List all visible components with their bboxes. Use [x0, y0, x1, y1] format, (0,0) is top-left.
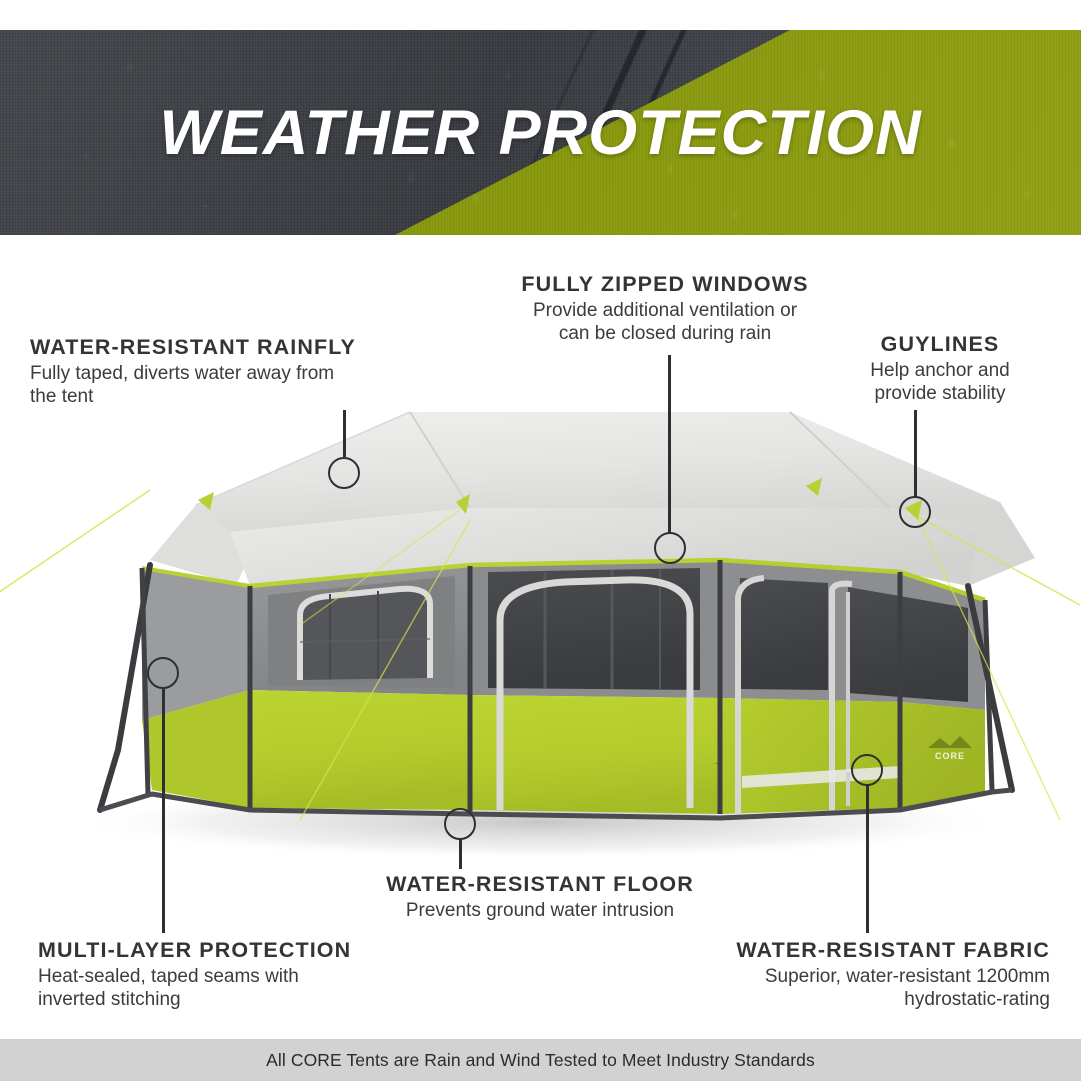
guyline-cord — [0, 490, 150, 605]
callout-fabric: WATER-RESISTANT FABRIC Superior, water-r… — [660, 938, 1050, 1011]
tent-front-left-green — [250, 690, 470, 810]
callout-desc-line: inverted stitching — [38, 989, 438, 1011]
callout-title-guylines: GUYLINES — [830, 332, 1050, 357]
callout-desc-windows: Provide additional ventilation or can be… — [455, 300, 875, 345]
header-banner: WEATHER PROTECTION — [0, 30, 1081, 235]
callout-title-windows: FULLY ZIPPED WINDOWS — [455, 272, 875, 297]
callout-desc-line: Help anchor and — [830, 360, 1050, 382]
leader-line-multi-layer — [162, 688, 165, 933]
callout-title-multi-layer: MULTI-LAYER PROTECTION — [38, 938, 438, 963]
callout-desc-line: Superior, water-resistant 1200mm — [660, 966, 1050, 988]
callout-desc-line: hydrostatic-rating — [660, 989, 1050, 1011]
banner-title: WEATHER PROTECTION — [0, 97, 1081, 169]
callout-rainfly: WATER-RESISTANT RAINFLY Fully taped, div… — [30, 335, 430, 408]
callout-desc-line: the tent — [30, 386, 430, 408]
callout-floor: WATER-RESISTANT FLOOR Prevents ground wa… — [330, 872, 750, 923]
leader-line-windows — [668, 355, 671, 533]
callout-desc-rainfly: Fully taped, diverts water away from the… — [30, 363, 430, 408]
leader-line-floor — [459, 839, 462, 869]
callout-title-floor: WATER-RESISTANT FLOOR — [330, 872, 750, 897]
ring-marker-multi-layer — [147, 657, 179, 689]
callout-title-rainfly: WATER-RESISTANT RAINFLY — [30, 335, 430, 360]
callout-desc-multi-layer: Heat-sealed, taped seams with inverted s… — [38, 966, 438, 1011]
callout-desc-line: Prevents ground water intrusion — [330, 900, 750, 922]
callout-desc-line: provide stability — [830, 383, 1050, 405]
left-window-mesh — [300, 589, 430, 680]
footer-text: All CORE Tents are Rain and Wind Tested … — [266, 1050, 815, 1071]
ring-marker-rainfly — [328, 457, 360, 489]
tent-center-green — [470, 695, 720, 814]
leader-line-guylines — [914, 410, 917, 497]
callout-guylines: GUYLINES Help anchor and provide stabili… — [830, 332, 1050, 405]
footer-bar: All CORE Tents are Rain and Wind Tested … — [0, 1039, 1081, 1081]
ring-marker-guylines — [899, 496, 931, 528]
leader-line-fabric — [866, 785, 869, 933]
callout-title-fabric: WATER-RESISTANT FABRIC — [660, 938, 1050, 963]
callout-multi-layer: MULTI-LAYER PROTECTION Heat-sealed, tape… — [38, 938, 438, 1011]
ring-marker-fabric — [851, 754, 883, 786]
svg-text:CORE: CORE — [935, 751, 965, 761]
ring-marker-floor — [444, 808, 476, 840]
callout-desc-line: Provide additional ventilation or — [455, 300, 875, 322]
callout-desc-line: Fully taped, diverts water away from — [30, 363, 430, 385]
callout-windows: FULLY ZIPPED WINDOWS Provide additional … — [455, 272, 875, 345]
infographic-canvas: WEATHER PROTECTION — [0, 0, 1081, 1081]
callout-desc-line: can be closed during rain — [455, 323, 875, 345]
leader-line-rainfly — [343, 410, 346, 457]
callout-desc-line: Heat-sealed, taped seams with — [38, 966, 438, 988]
callout-desc-guylines: Help anchor and provide stability — [830, 360, 1050, 405]
callout-desc-floor: Prevents ground water intrusion — [330, 900, 750, 922]
callout-desc-fabric: Superior, water-resistant 1200mm hydrost… — [660, 966, 1050, 1011]
ring-marker-windows — [654, 532, 686, 564]
right-window-mesh-1 — [740, 578, 828, 690]
